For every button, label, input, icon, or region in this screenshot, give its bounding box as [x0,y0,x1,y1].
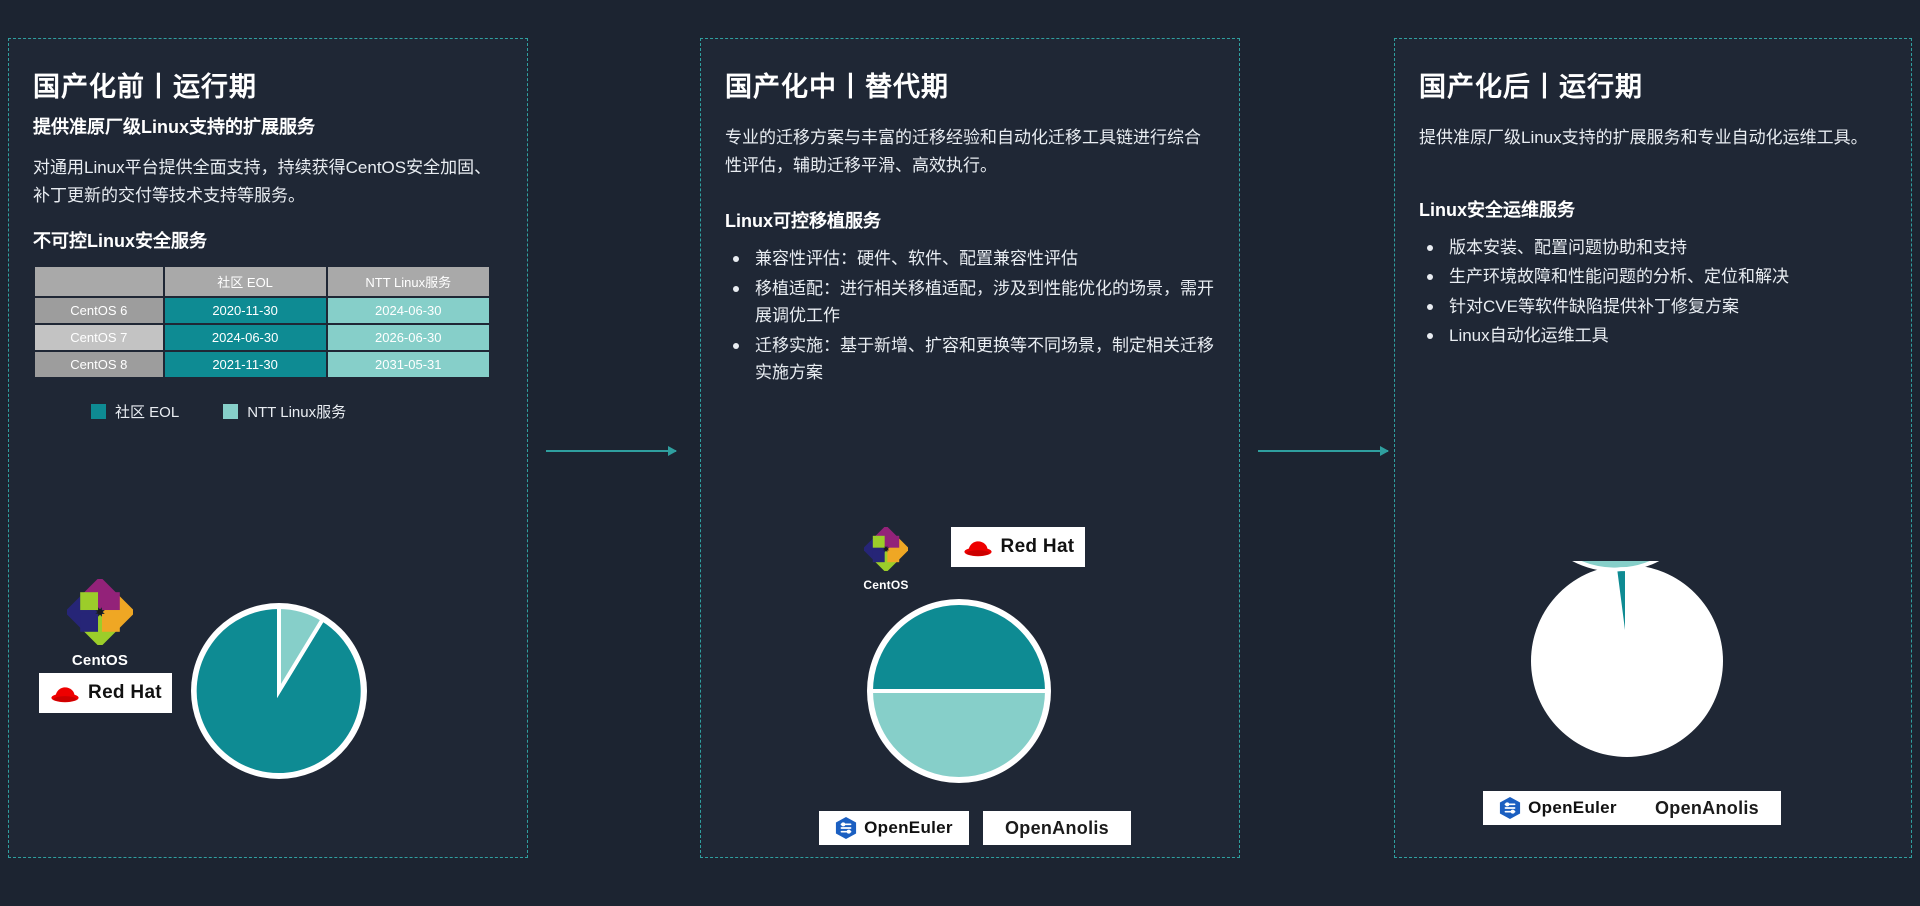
col-head-community-eol: 社区 EOL [165,267,326,296]
openeuler-logo-label: OpenEuler [1528,798,1617,818]
pie-chart-after [1527,561,1727,766]
panel-3-bullet-list: 版本安装、配置问题协助和支持 生产环境故障和性能问题的分析、定位和解决 针对CV… [1419,234,1887,350]
table-row: CentOS 6 2020-11-30 2024-06-30 [35,298,489,323]
panel-2-title: 国产化中丨替代期 [725,65,1215,104]
openeuler-mark-icon [835,816,857,840]
table-row: CentOS 7 2024-06-30 2026-06-30 [35,325,489,350]
pie-chart-before [187,599,371,788]
panel-during-localization: 国产化中丨替代期 专业的迁移方案与丰富的迁移经验和自动化迁移工具链进行综合性评估… [700,38,1240,858]
openeuler-logo: OpenEuler [1483,791,1633,825]
centos-logo: CentOS [847,527,925,592]
legend-label-community-eol: 社区 EOL [115,401,179,422]
openanolis-logo-label: OpenAnolis [1655,798,1759,819]
cell-eol-centos7: 2024-06-30 [165,325,326,350]
row-label-centos6: CentOS 6 [35,298,163,323]
legend-swatch-icon [91,404,106,419]
panel-3-body: 提供准原厂级Linux支持的扩展服务和专业自动化运维工具。 [1419,124,1887,152]
pie-svg [863,595,1055,787]
redhat-fedora-icon [49,682,81,704]
openanolis-logo: OpenAnolis [1633,791,1781,825]
openanolis-logo-label: OpenAnolis [1005,818,1109,839]
list-item: Linux自动化运维工具 [1419,322,1887,350]
list-item: 版本安装、配置问题协助和支持 [1419,234,1887,262]
cell-eol-centos6: 2020-11-30 [165,298,326,323]
table-header-row: 社区 EOL NTT Linux服务 [35,267,489,296]
list-item: 兼容性评估：硬件、软件、配置兼容性评估 [725,245,1215,273]
redhat-fedora-icon [962,536,994,558]
panel-2-bullet-list: 兼容性评估：硬件、软件、配置兼容性评估 移植适配：进行相关移植适配，涉及到性能优… [725,245,1215,387]
legend-item-community-eol: 社区 EOL [91,401,179,422]
arrow-right-icon-2 [1258,450,1388,452]
panel-1-section-head: 不可控Linux安全服务 [33,227,503,253]
openeuler-mark-icon [1499,796,1521,820]
cell-ntt-centos8: 2031-05-31 [328,352,490,377]
legend-swatch-icon [223,404,238,419]
table-row: CentOS 8 2021-11-30 2031-05-31 [35,352,489,377]
list-item: 迁移实施：基于新增、扩容和更换等不同场景，制定相关迁移实施方案 [725,332,1215,387]
redhat-logo-label: Red Hat [1001,536,1075,558]
centos-mark-icon [67,579,133,645]
redhat-logo: Red Hat [39,673,172,713]
panel-before-localization: 国产化前丨运行期 提供准原厂级Linux支持的扩展服务 对通用Linux平台提供… [8,38,528,858]
legend-item-ntt-service: NTT Linux服务 [223,401,346,422]
col-head-blank [35,267,163,296]
pie-svg [187,599,371,783]
legend-label-ntt-service: NTT Linux服务 [247,401,346,422]
arrow-right-icon-1 [546,450,676,452]
panel-1-subtitle: 提供准原厂级Linux支持的扩展服务 [33,114,503,140]
cell-eol-centos8: 2021-11-30 [165,352,326,377]
eol-table: 社区 EOL NTT Linux服务 CentOS 6 2020-11-30 2… [33,265,491,379]
list-item: 移植适配：进行相关移植适配，涉及到性能优化的场景，需开展调优工作 [725,275,1215,330]
redhat-logo-label: Red Hat [88,682,162,704]
panel-1-body: 对通用Linux平台提供全面支持，持续获得CentOS安全加固、补丁更新的交付等… [33,154,503,209]
panel-2-section-head: Linux可控移植服务 [725,207,1215,233]
panel-after-localization: 国产化后丨运行期 提供准原厂级Linux支持的扩展服务和专业自动化运维工具。 L… [1394,38,1912,858]
openeuler-logo: OpenEuler [819,811,969,845]
openeuler-logo-label: OpenEuler [864,818,953,838]
centos-logo-label: CentOS [847,578,925,592]
slide-canvas: 国产化前丨运行期 提供准原厂级Linux支持的扩展服务 对通用Linux平台提供… [0,0,1920,906]
centos-mark-icon [864,527,908,571]
panel-1-title: 国产化前丨运行期 [33,65,503,104]
row-label-centos7: CentOS 7 [35,325,163,350]
centos-logo: CentOS [45,579,155,669]
pie-chart-during [863,595,1055,792]
cell-ntt-centos6: 2024-06-30 [328,298,490,323]
cell-ntt-centos7: 2026-06-30 [328,325,490,350]
chart-legend: 社区 EOL NTT Linux服务 [33,401,503,422]
panel-2-body: 专业的迁移方案与丰富的迁移经验和自动化迁移工具链进行综合性评估，辅助迁移平滑、高… [725,124,1215,179]
list-item: 针对CVE等软件缺陷提供补丁修复方案 [1419,293,1887,321]
panel-3-section-head: Linux安全运维服务 [1419,196,1887,222]
panel-3-title: 国产化后丨运行期 [1419,65,1887,104]
centos-logo-label: CentOS [45,652,155,669]
redhat-logo: Red Hat [951,527,1085,567]
list-item: 生产环境故障和性能问题的分析、定位和解决 [1419,263,1887,291]
row-label-centos8: CentOS 8 [35,352,163,377]
openanolis-logo: OpenAnolis [983,811,1131,845]
pie-svg [1527,561,1727,761]
col-head-ntt-service: NTT Linux服务 [328,267,490,296]
